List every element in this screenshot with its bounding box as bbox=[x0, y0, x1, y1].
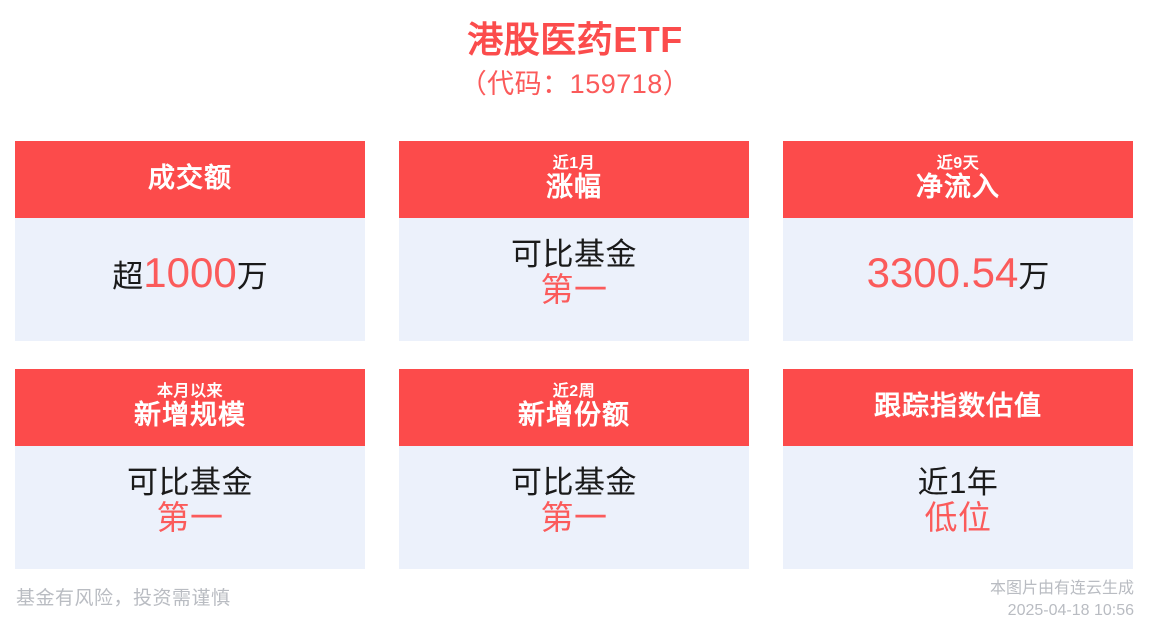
metric-card-net-inflow: 近9天 净流入 3300.54 万 bbox=[783, 141, 1133, 341]
metric-line-highlight: 低位 bbox=[925, 501, 992, 536]
card-body-1m-gain: 可比基金 第一 bbox=[399, 218, 749, 341]
card-header-sublabel: 本月以来 bbox=[157, 383, 223, 400]
metric-line-highlight: 第一 bbox=[541, 273, 608, 308]
value-prefix: 超 bbox=[112, 261, 143, 294]
card-header-sublabel: 近9天 bbox=[937, 155, 979, 172]
metric-card-new-scale: 本月以来 新增规模 可比基金 第一 bbox=[15, 369, 365, 569]
card-header-turnover: 成交额 bbox=[15, 141, 365, 218]
fund-code-subtitle: （代码：159718） bbox=[0, 66, 1150, 102]
generation-source: 本图片由有连云生成 bbox=[990, 578, 1134, 600]
page-title: 港股医药ETF bbox=[0, 18, 1150, 62]
card-header-label: 净流入 bbox=[916, 173, 1000, 202]
metric-card-index-valuation: 跟踪指数估值 近1年 低位 bbox=[783, 369, 1133, 569]
metric-card-new-shares: 近2周 新增份额 可比基金 第一 bbox=[399, 369, 749, 569]
risk-disclaimer: 基金有风险，投资需谨慎 bbox=[16, 583, 231, 610]
value-unit: 万 bbox=[237, 261, 268, 294]
card-body-new-scale: 可比基金 第一 bbox=[15, 446, 365, 569]
card-body-net-inflow: 3300.54 万 bbox=[783, 218, 1133, 341]
card-body-new-shares: 可比基金 第一 bbox=[399, 446, 749, 569]
metric-line-highlight: 第一 bbox=[157, 501, 224, 536]
metric-card-grid: 成交额 超 1000 万 近1月 涨幅 可比基金 第一 bbox=[15, 141, 1135, 569]
card-body-turnover: 超 1000 万 bbox=[15, 218, 365, 341]
metric-value: 3300.54 万 bbox=[867, 251, 1050, 296]
metric-line-primary: 可比基金 bbox=[511, 467, 637, 500]
metric-card-turnover: 成交额 超 1000 万 bbox=[15, 141, 365, 341]
metric-line-highlight: 第一 bbox=[541, 501, 608, 536]
card-header-sublabel: 近2周 bbox=[553, 383, 595, 400]
generation-timestamp: 2025-04-18 10:56 bbox=[990, 600, 1134, 622]
card-header-new-shares: 近2周 新增份额 bbox=[399, 369, 749, 446]
card-header-net-inflow: 近9天 净流入 bbox=[783, 141, 1133, 218]
card-header-label: 成交额 bbox=[148, 164, 232, 193]
card-header-1m-gain: 近1月 涨幅 bbox=[399, 141, 749, 218]
card-header-label: 涨幅 bbox=[546, 173, 602, 202]
metric-value: 超 1000 万 bbox=[112, 251, 267, 296]
card-header-label: 新增份额 bbox=[518, 401, 630, 430]
metric-line-primary: 近1年 bbox=[918, 467, 999, 500]
card-body-index-valuation: 近1年 低位 bbox=[783, 446, 1133, 569]
card-header-new-scale: 本月以来 新增规模 bbox=[15, 369, 365, 446]
etf-infographic-page: 港股医药ETF （代码：159718） 成交额 超 1000 万 近1月 涨幅 bbox=[0, 0, 1150, 632]
card-header-sublabel: 近1月 bbox=[553, 155, 595, 172]
card-header-index-valuation: 跟踪指数估值 bbox=[783, 369, 1133, 446]
metric-line-primary: 可比基金 bbox=[127, 467, 253, 500]
generation-credit: 本图片由有连云生成 2025-04-18 10:56 bbox=[990, 578, 1134, 622]
value-number: 3300.54 bbox=[867, 251, 1019, 296]
value-number: 1000 bbox=[143, 251, 236, 296]
metric-line-primary: 可比基金 bbox=[511, 239, 637, 272]
page-header: 港股医药ETF （代码：159718） bbox=[0, 0, 1150, 125]
value-unit: 万 bbox=[1018, 261, 1049, 294]
metric-card-1m-gain: 近1月 涨幅 可比基金 第一 bbox=[399, 141, 749, 341]
card-header-label: 新增规模 bbox=[134, 401, 246, 430]
card-header-label: 跟踪指数估值 bbox=[874, 392, 1042, 421]
